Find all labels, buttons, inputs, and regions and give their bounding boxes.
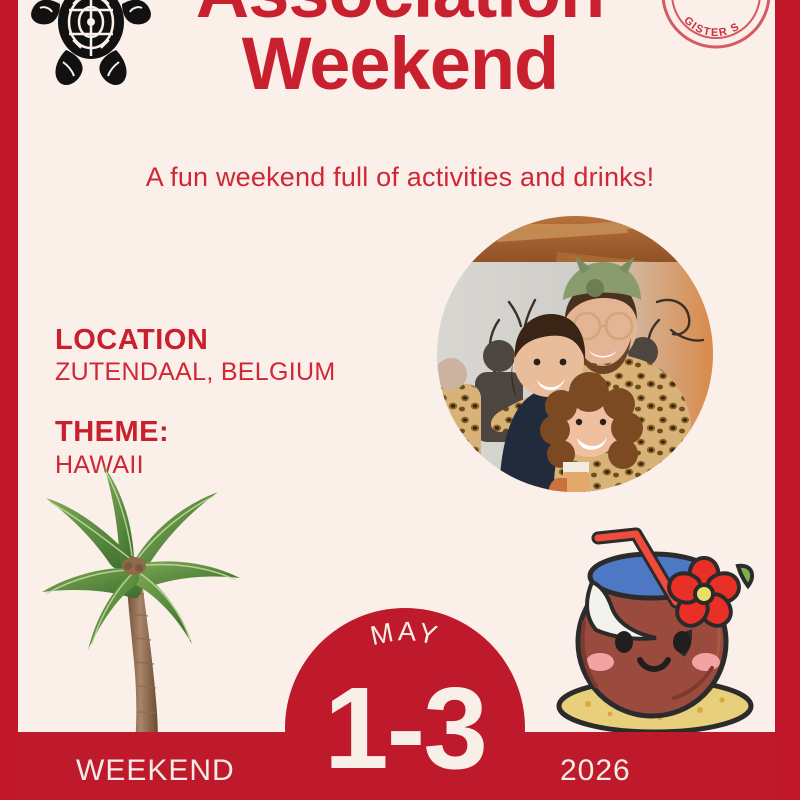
- theme-label: THEME:: [55, 417, 335, 447]
- subtitle: A fun weekend full of activities and dri…: [0, 162, 800, 193]
- registration-stamp-icon: GISTER S: [660, 0, 772, 50]
- svg-text:MAY: MAY: [368, 616, 443, 651]
- event-photo: [437, 216, 713, 492]
- palm-tree-illustration: [22, 462, 252, 762]
- info-block: LOCATION ZUTENDAAL, BELGIUM THEME: HAWAI…: [55, 325, 335, 480]
- poster-canvas: GISTER S Association Weekend A fun weeke…: [0, 0, 800, 800]
- year-label: 2026: [560, 754, 631, 788]
- turtle-tribal-icon: [26, 0, 156, 90]
- location-group: LOCATION ZUTENDAAL, BELGIUM: [55, 325, 335, 387]
- location-value: ZUTENDAAL, BELGIUM: [55, 357, 335, 387]
- location-label: LOCATION: [55, 325, 335, 355]
- weekend-label: WEEKEND: [76, 754, 235, 788]
- date-month-text: MAY: [368, 616, 443, 651]
- stamp-text: GISTER S: [681, 14, 742, 39]
- frame-border-right: [775, 0, 800, 800]
- frame-border-left: [0, 0, 18, 800]
- date-badge: MAY 1-3: [285, 608, 525, 800]
- svg-text:GISTER S: GISTER S: [681, 14, 742, 39]
- coconut-drink-illustration: [540, 520, 770, 740]
- date-days-text: 1-3: [285, 670, 525, 786]
